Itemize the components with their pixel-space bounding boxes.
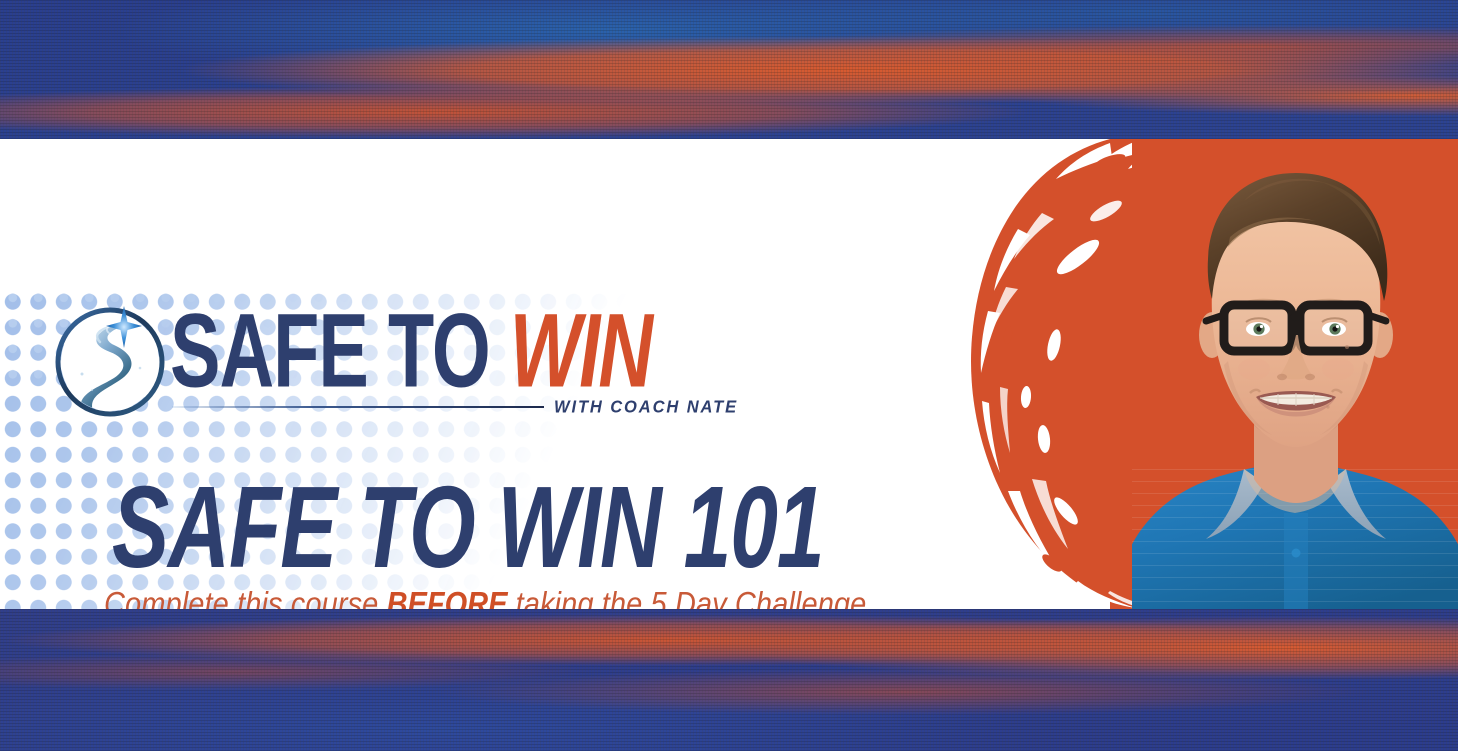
- brand-tagline-row: WITH COACH NATE: [172, 396, 738, 418]
- brand-logo-lockup[interactable]: SAFE TO WIN WITH COACH NATE: [52, 302, 692, 422]
- subheadline-lead: Complete this course: [104, 586, 387, 609]
- coach-portrait: [1132, 139, 1458, 609]
- subheadline-emphasis: BEFORE: [387, 586, 508, 609]
- wordmark-win: WIN: [510, 291, 651, 409]
- subheadline: Complete this course BEFORE taking the 5…: [104, 585, 875, 609]
- wordmark-safe-to: SAFE TO: [170, 291, 510, 409]
- banner-card: SAFE TO WIN WITH COACH NATE SAFE TO WIN …: [0, 139, 1458, 609]
- tagline-divider: [172, 406, 544, 408]
- subheadline-tail: taking the 5 Day Challenge.: [507, 586, 874, 609]
- winding-road-circle-emblem: [52, 302, 168, 418]
- portrait-zone: [960, 139, 1458, 609]
- page-title: SAFE TO WIN 101: [112, 469, 824, 585]
- brand-tagline: WITH COACH NATE: [554, 397, 738, 418]
- brand-wordmark: SAFE TO WIN: [170, 298, 651, 403]
